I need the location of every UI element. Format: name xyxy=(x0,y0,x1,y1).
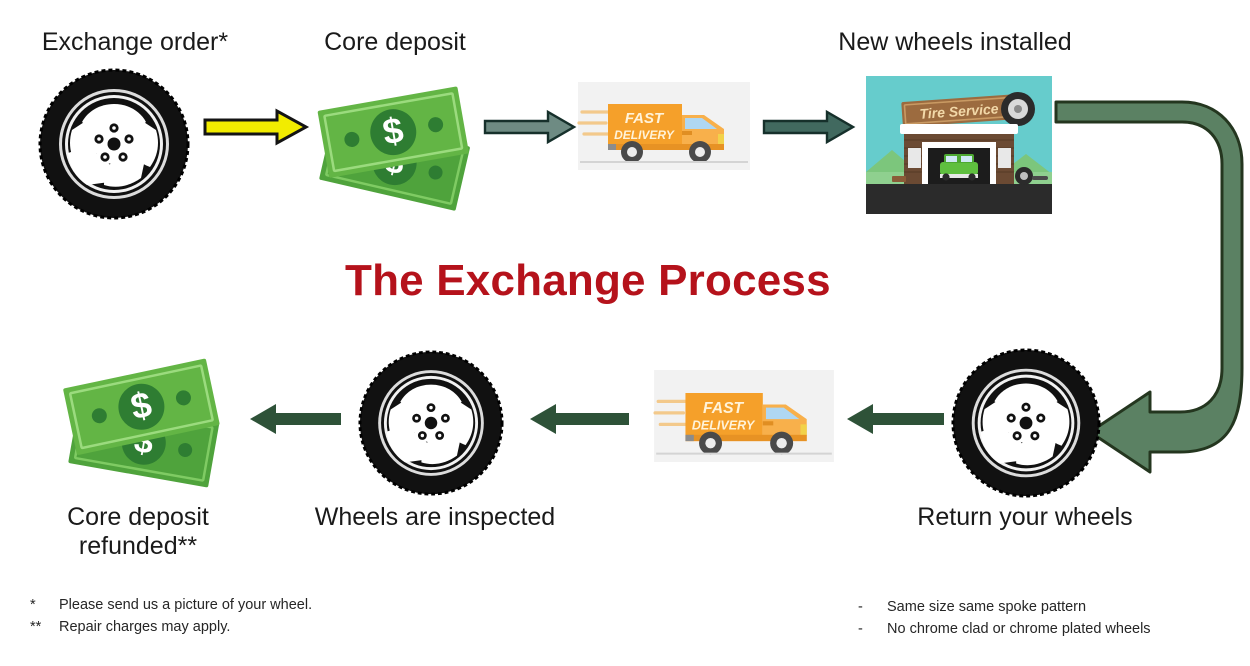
alloy-wheel-icon-return xyxy=(951,348,1101,498)
footnote-right-0-mark: - xyxy=(858,596,878,618)
footnote-right-1-text: No chrome clad or chrome plated wheels xyxy=(887,618,1151,640)
arrow-shipping-to-inspected xyxy=(528,403,630,435)
tire-service-shop-icon: Tire Service xyxy=(866,76,1052,214)
cash-banknotes-icon-refund: $ $ xyxy=(56,348,236,488)
refund-label-line2: refunded** xyxy=(79,532,197,560)
exchange-process-diagram: Exchange order* Core deposit New wheels … xyxy=(0,0,1250,666)
truck-text-line2: DELIVERY xyxy=(614,128,675,142)
footnotes-right: - Same size same spoke pattern - No chro… xyxy=(858,596,1250,641)
arrow-deposit-to-shipping xyxy=(484,110,576,144)
step-label-wheels-inspected: Wheels are inspected xyxy=(290,503,580,532)
arrow-return-to-shipping xyxy=(845,403,945,435)
arrow-shipping-to-installed xyxy=(763,110,855,144)
refund-label-line1: Core deposit xyxy=(67,503,209,531)
footnote-left-1-mark: ** xyxy=(30,616,50,638)
step-label-core-deposit-refunded: Core deposit refunded** xyxy=(28,503,248,561)
step-label-return-your-wheels: Return your wheels xyxy=(895,503,1155,532)
footnote-left-0: * Please send us a picture of your wheel… xyxy=(30,594,450,616)
footnotes-left: * Please send us a picture of your wheel… xyxy=(30,594,450,639)
cash-banknotes-icon-core-deposit: $ $ xyxy=(310,72,480,207)
arrow-exchange-to-deposit xyxy=(203,108,308,146)
svg-text:DELIVERY: DELIVERY xyxy=(692,419,756,433)
fast-delivery-truck-icon-return: FAST DELIVERY xyxy=(654,370,834,462)
step-label-exchange-order: Exchange order* xyxy=(10,28,260,57)
footnote-left-0-text: Please send us a picture of your wheel. xyxy=(59,594,312,616)
alloy-wheel-icon-exchange-order xyxy=(38,68,190,220)
footnote-left-1-text: Repair charges may apply. xyxy=(59,616,230,638)
footnote-right-0-text: Same size same spoke pattern xyxy=(887,596,1086,618)
fast-delivery-truck-icon-outbound: FAST DELIVERY xyxy=(578,82,750,170)
step-label-core-deposit: Core deposit xyxy=(285,28,505,57)
page-title: The Exchange Process xyxy=(345,256,831,306)
footnote-right-0: - Same size same spoke pattern xyxy=(858,596,1250,618)
footnote-left-1: ** Repair charges may apply. xyxy=(30,616,450,638)
footnote-left-0-mark: * xyxy=(30,594,50,616)
truck-text-line1: FAST xyxy=(625,110,665,127)
alloy-wheel-icon-inspected xyxy=(358,350,504,496)
svg-text:FAST: FAST xyxy=(703,400,744,417)
footnote-right-1: - No chrome clad or chrome plated wheels xyxy=(858,618,1250,640)
step-label-new-wheels-installed: New wheels installed xyxy=(795,28,1115,57)
footnote-right-1-mark: - xyxy=(858,618,878,640)
arrow-inspected-to-refund xyxy=(248,403,342,435)
